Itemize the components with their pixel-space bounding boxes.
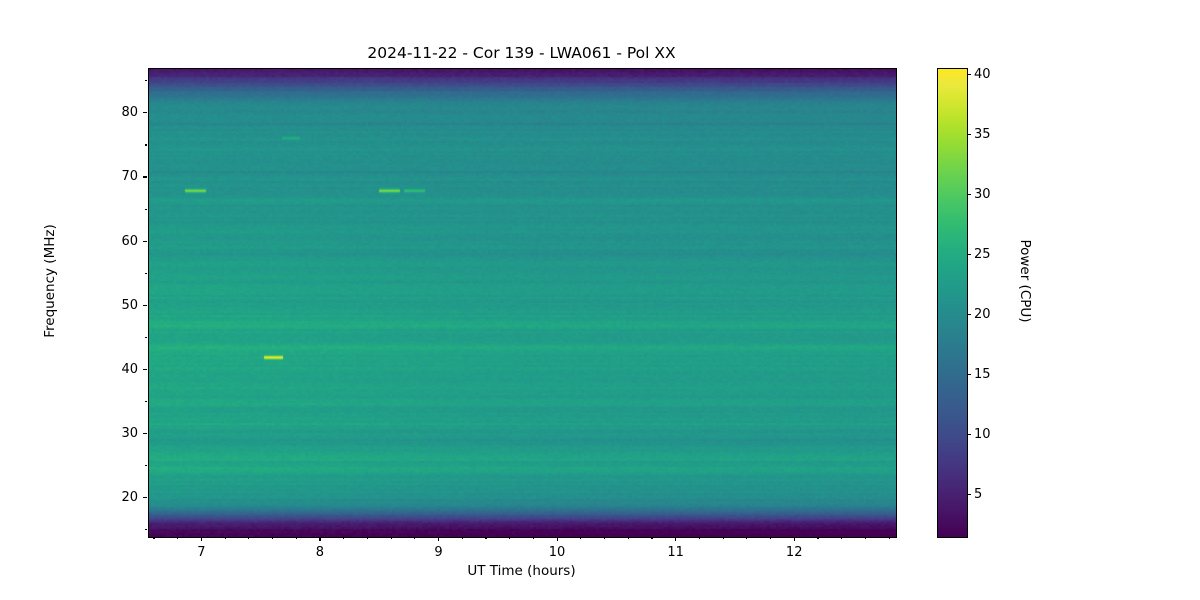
x-minor-tick-mark	[699, 537, 700, 539]
y-tick-label: 40	[90, 363, 138, 376]
x-minor-tick-mark	[770, 537, 771, 539]
x-minor-tick-mark	[153, 537, 154, 539]
x-tick-label: 8	[295, 546, 345, 559]
y-tick-label: 20	[90, 491, 138, 504]
colorbar-tick-mark	[967, 314, 971, 315]
colorbar-tick-label: 20	[974, 308, 1014, 321]
y-minor-tick-mark	[145, 144, 147, 145]
y-tick-label: 60	[90, 235, 138, 248]
x-minor-tick-mark	[225, 537, 226, 539]
x-minor-tick-mark	[580, 537, 581, 539]
figure-canvas: 2024-11-22 - Cor 139 - LWA061 - Pol XX 2…	[0, 0, 1200, 600]
x-tick-mark	[438, 537, 439, 541]
y-tick-mark	[143, 176, 147, 177]
x-tick-label: 10	[532, 546, 582, 559]
colorbar-tick-label: 10	[974, 428, 1014, 441]
x-minor-tick-mark	[248, 537, 249, 539]
x-minor-tick-mark	[414, 537, 415, 539]
colorbar-tick-mark	[967, 194, 971, 195]
x-minor-tick-mark	[628, 537, 629, 539]
colorbar-label: Power (CPU)	[1017, 171, 1033, 391]
x-tick-mark	[319, 537, 320, 541]
colorbar-tick-mark	[967, 254, 971, 255]
x-tick-mark	[201, 537, 202, 541]
page-title: 2024-11-22 - Cor 139 - LWA061 - Pol XX	[148, 44, 895, 62]
colorbar-tick-label: 5	[974, 488, 1014, 501]
x-tick-label: 11	[651, 546, 701, 559]
colorbar[interactable]	[937, 68, 968, 538]
x-minor-tick-mark	[841, 537, 842, 539]
x-minor-tick-mark	[367, 537, 368, 539]
colorbar-tick-label: 15	[974, 368, 1014, 381]
y-tick-mark	[143, 369, 147, 370]
y-minor-tick-mark	[145, 401, 147, 402]
y-tick-label: 80	[90, 106, 138, 119]
spectrogram-axes[interactable]	[148, 68, 897, 538]
x-tick-mark	[675, 537, 676, 541]
x-minor-tick-mark	[533, 537, 534, 539]
y-tick-label: 70	[90, 170, 138, 183]
x-axis-label: UT Time (hours)	[148, 563, 895, 579]
x-tick-label: 7	[176, 546, 226, 559]
y-tick-mark	[143, 433, 147, 434]
colorbar-tick-label: 40	[974, 68, 1014, 81]
x-tick-mark	[794, 537, 795, 541]
x-minor-tick-mark	[177, 537, 178, 539]
y-minor-tick-mark	[145, 529, 147, 530]
y-minor-tick-mark	[145, 465, 147, 466]
x-minor-tick-mark	[509, 537, 510, 539]
colorbar-tick-mark	[967, 134, 971, 135]
colorbar-gradient	[938, 69, 967, 537]
y-minor-tick-mark	[145, 209, 147, 210]
colorbar-tick-mark	[967, 494, 971, 495]
y-tick-mark	[143, 241, 147, 242]
x-minor-tick-mark	[651, 537, 652, 539]
x-tick-label: 12	[769, 546, 819, 559]
x-minor-tick-mark	[272, 537, 273, 539]
y-tick-mark	[143, 497, 147, 498]
x-minor-tick-mark	[462, 537, 463, 539]
x-minor-tick-mark	[723, 537, 724, 539]
colorbar-tick-mark	[967, 434, 971, 435]
y-minor-tick-mark	[145, 337, 147, 338]
x-minor-tick-mark	[889, 537, 890, 539]
y-tick-mark	[143, 112, 147, 113]
x-minor-tick-mark	[817, 537, 818, 539]
x-minor-tick-mark	[343, 537, 344, 539]
x-minor-tick-mark	[391, 537, 392, 539]
y-tick-label: 50	[90, 299, 138, 312]
x-tick-mark	[557, 537, 558, 541]
colorbar-tick-mark	[967, 74, 971, 75]
x-minor-tick-mark	[865, 537, 866, 539]
colorbar-tick-label: 35	[974, 128, 1014, 141]
x-tick-label: 9	[414, 546, 464, 559]
x-minor-tick-mark	[296, 537, 297, 539]
y-tick-label: 30	[90, 427, 138, 440]
y-tick-mark	[143, 305, 147, 306]
x-minor-tick-mark	[604, 537, 605, 539]
colorbar-tick-label: 30	[974, 188, 1014, 201]
spectrogram-heatmap[interactable]	[149, 69, 896, 537]
x-minor-tick-mark	[746, 537, 747, 539]
colorbar-tick-mark	[967, 374, 971, 375]
y-minor-tick-mark	[145, 80, 147, 81]
x-minor-tick-mark	[485, 537, 486, 539]
colorbar-tick-label: 25	[974, 248, 1014, 261]
y-minor-tick-mark	[145, 273, 147, 274]
y-axis-label: Frequency (MHz)	[42, 171, 58, 391]
